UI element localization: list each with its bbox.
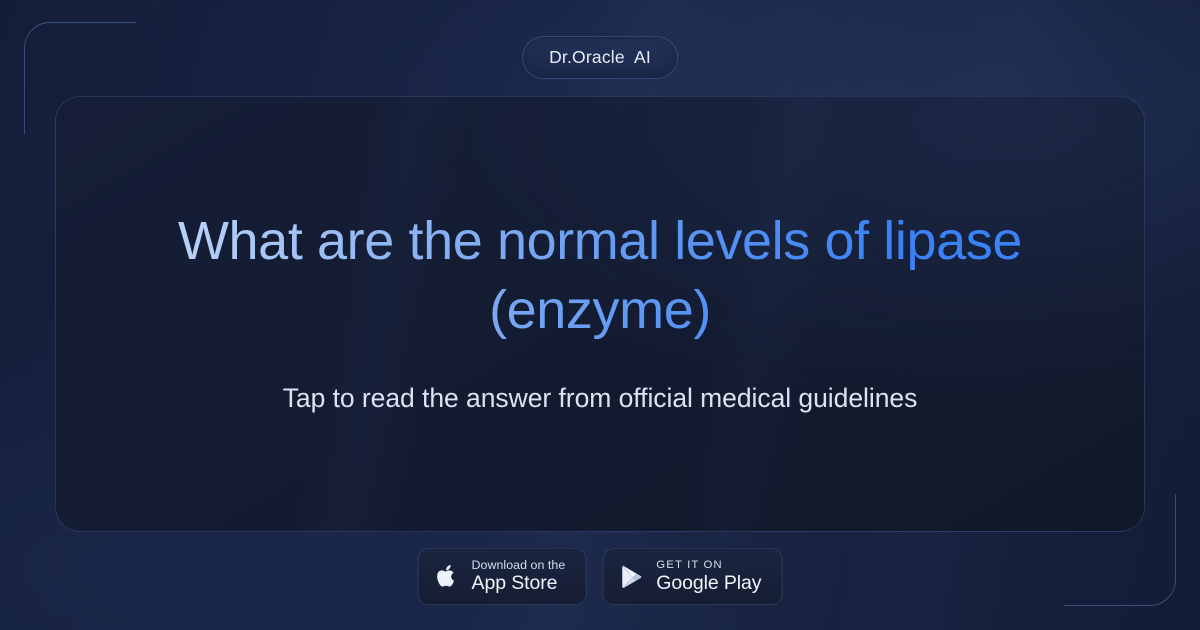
google-play-eyebrow: GET IT ON bbox=[656, 560, 761, 571]
page-title: What are the normal levels of lipase (en… bbox=[170, 207, 1030, 345]
question-card[interactable]: What are the normal levels of lipase (en… bbox=[55, 96, 1145, 532]
question-card-content: What are the normal levels of lipase (en… bbox=[170, 207, 1030, 416]
app-store-text: Download on the App Store bbox=[472, 559, 566, 594]
google-play-icon bbox=[620, 563, 643, 590]
share-card: Dr.Oracle AI What are the normal levels … bbox=[0, 0, 1200, 630]
brand-badge-label: Dr.Oracle AI bbox=[549, 47, 651, 68]
app-store-badge[interactable]: Download on the App Store bbox=[418, 548, 587, 605]
google-play-name: Google Play bbox=[656, 574, 761, 594]
google-play-badge[interactable]: GET IT ON Google Play bbox=[602, 548, 782, 605]
brand-badge: Dr.Oracle AI bbox=[522, 36, 678, 79]
page-subtitle: Tap to read the answer from official med… bbox=[170, 381, 1030, 415]
app-store-eyebrow: Download on the bbox=[472, 559, 566, 571]
page-title-line-1: What are the normal levels of lipase bbox=[178, 211, 1022, 271]
app-store-name: App Store bbox=[472, 574, 566, 594]
apple-icon bbox=[436, 563, 459, 590]
store-badge-row: Download on the App Store GET IT ON Goog… bbox=[418, 548, 783, 605]
google-play-text: GET IT ON Google Play bbox=[656, 560, 761, 594]
page-title-line-2: (enzyme) bbox=[489, 280, 711, 340]
